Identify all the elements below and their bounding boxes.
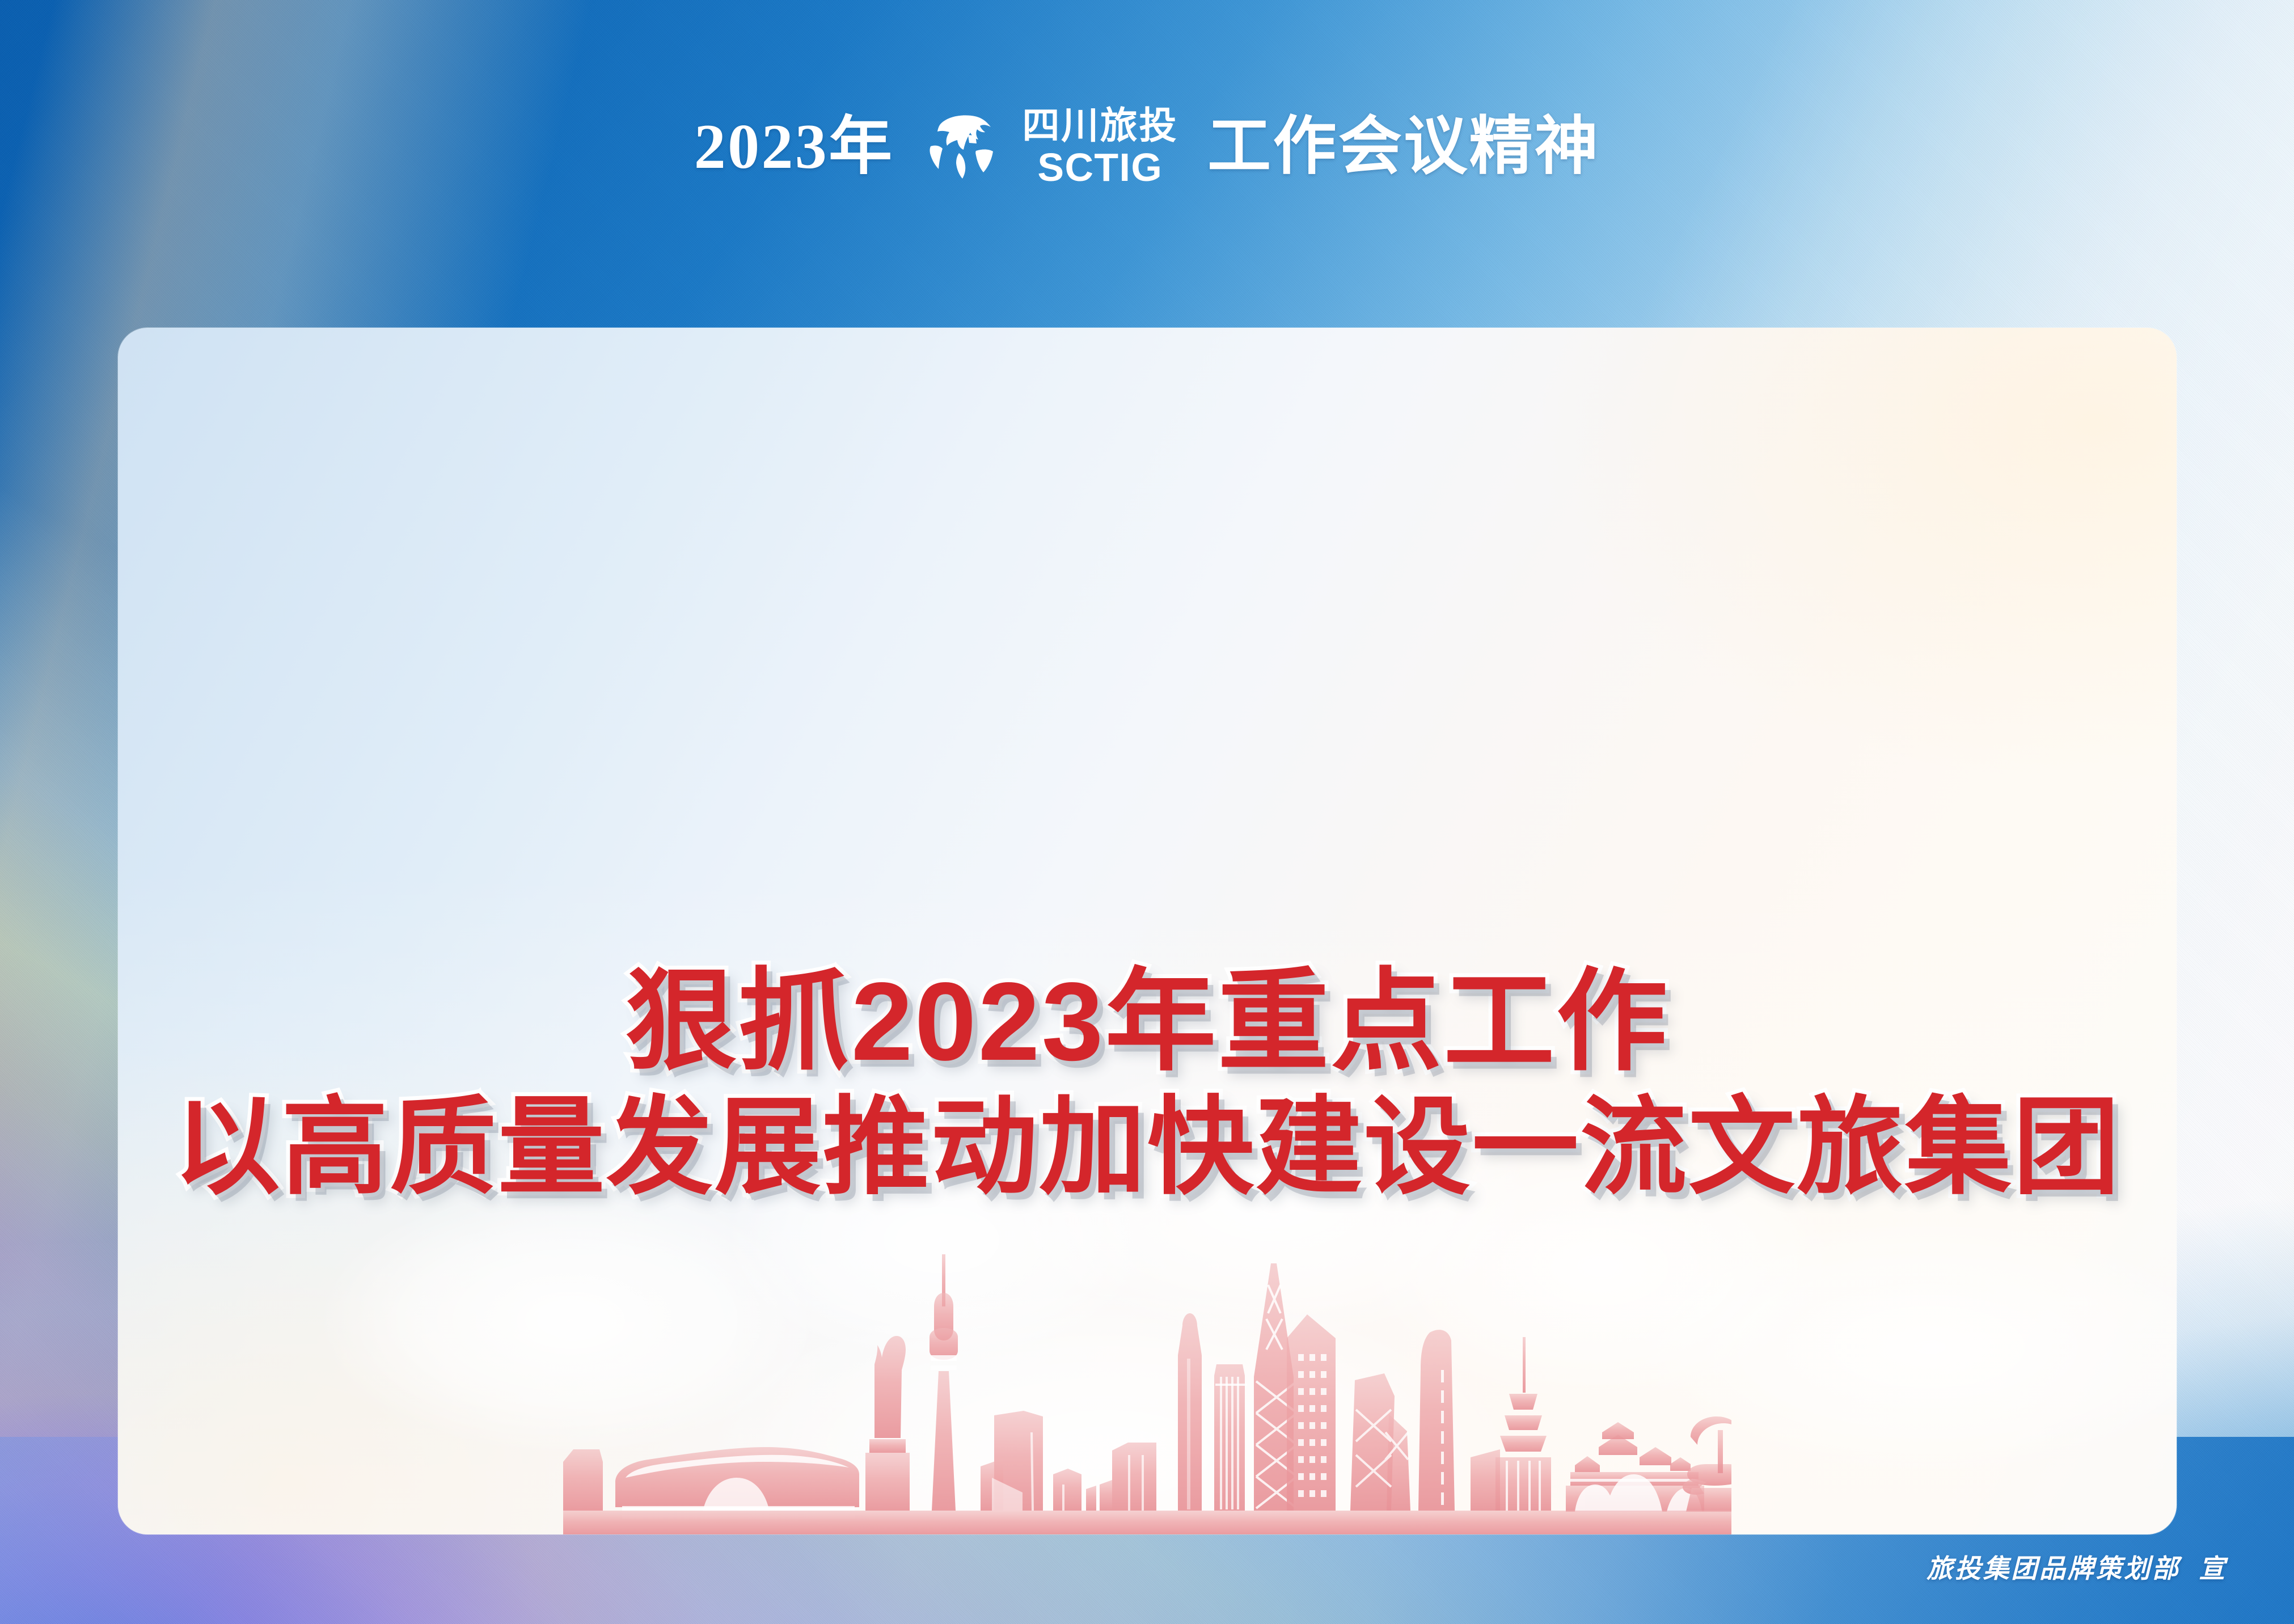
brand-name-cn: 四川旅投 [1023,107,1178,144]
content-card: 狠抓2023年重点工作 以高质量发展推动加快建设一流文旅集团 [118,328,2177,1534]
globe-logo-icon [924,113,1009,180]
brand-logo-wordmark: 四川旅投 SCTIG [1023,107,1178,187]
header-lockup: 2023年 四川旅投 SCTIG 工作会议精神 [694,107,1600,187]
footer-credit: 旅投集团品牌策划部 宣 [1927,1548,2227,1585]
page-header: 2023年 四川旅投 SCTIG 工作会议精神 [0,0,2294,328]
header-suffix-label: 工作会议精神 [1207,115,1600,179]
header-year-label: 2023年 [694,115,894,179]
title-line-2: 以高质量发展推动加快建设一流文旅集团 [174,1091,2122,1204]
brand-name-en: SCTIG [1037,147,1163,187]
title-line-1: 狠抓2023年重点工作 [626,963,1669,1081]
brand-logo: 四川旅投 SCTIG [924,107,1178,187]
main-title: 狠抓2023年重点工作 以高质量发展推动加快建设一流文旅集团 [118,963,2177,1204]
